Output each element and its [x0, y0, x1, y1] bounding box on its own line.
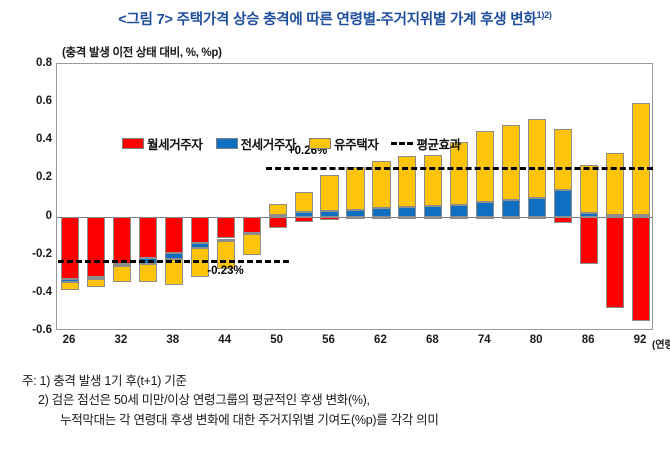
bar-segment-homeowner [580, 165, 598, 213]
bar-segment-monthly-rent [632, 217, 650, 321]
bar-segment-homeowner [113, 266, 131, 282]
avg-line-over-50 [266, 167, 653, 170]
avg-line-under-50 [58, 260, 289, 263]
bar-segment-homeowner [243, 234, 261, 255]
x-axis-tick: 62 [374, 334, 387, 346]
legend-item-label: 평균효과 [416, 134, 460, 153]
page-title-superscript: 1)2) [537, 10, 552, 20]
bar-segment-monthly-rent [502, 217, 520, 219]
legend-swatch-blue [216, 138, 238, 149]
bar-column [269, 64, 287, 329]
bar-segment-jeonse [476, 202, 494, 216]
bar-segment-monthly-rent [606, 217, 624, 309]
bar-column [346, 64, 364, 329]
bar-column [398, 64, 416, 329]
legend-item-label: 유주택자 [334, 134, 378, 153]
bar-segment-jeonse [632, 215, 650, 217]
y-axis-tick: 0.6 [8, 95, 52, 107]
bar-segment-homeowner [502, 125, 520, 200]
x-axis-tick: 38 [166, 334, 179, 346]
bar-segment-homeowner [554, 129, 572, 190]
y-axis-tick: 0.8 [8, 57, 52, 69]
bar-segment-homeowner [61, 282, 79, 290]
bar-segment-homeowner [632, 103, 650, 216]
bar-segment-monthly-rent [61, 217, 79, 279]
legend-item: 월세거주자 [122, 134, 203, 153]
legend-item-label: 월세거주자 [147, 134, 203, 153]
x-axis-unit-label: (연령) [652, 336, 670, 351]
bar-segment-monthly-rent [398, 217, 416, 219]
y-axis-tick: 0.4 [8, 133, 52, 145]
bar-segment-monthly-rent [191, 217, 209, 244]
legend-item: 평균효과 [391, 134, 460, 153]
bar-segment-jeonse [398, 207, 416, 217]
bar-segment-jeonse [502, 200, 520, 216]
bar-segment-homeowner [606, 153, 624, 215]
bar-column [87, 64, 105, 329]
bar-segment-monthly-rent [372, 217, 390, 219]
legend-dash-black [391, 138, 413, 149]
bar-column [191, 64, 209, 329]
bar-segment-monthly-rent [295, 217, 313, 223]
bar-segment-monthly-rent [528, 217, 546, 219]
bar-segment-monthly-rent [139, 217, 157, 258]
bar-segment-monthly-rent [580, 217, 598, 265]
chart-plot-inner: -0.23%+0.26% [57, 64, 652, 329]
axis-unit-label: (충격 발생 이전 상태 대비, %, %p) [62, 44, 222, 60]
legend-item: 유주택자 [309, 134, 378, 153]
bar-column [502, 64, 520, 329]
bar-segment-monthly-rent [320, 217, 338, 221]
bar-segment-jeonse [450, 205, 468, 216]
bar-column [61, 64, 79, 329]
bar-column [295, 64, 313, 329]
chart-legend: 월세거주자전세거주자유주택자평균효과 [122, 134, 461, 153]
y-axis-tick: -0.4 [8, 286, 52, 298]
bar-segment-monthly-rent [476, 217, 494, 219]
bar-column [217, 64, 235, 329]
bar-segment-jeonse [346, 210, 364, 217]
avg-under-50-label: -0.23% [207, 265, 243, 277]
bar-segment-monthly-rent [243, 217, 261, 233]
legend-swatch-red [122, 138, 144, 149]
bar-segment-jeonse [424, 206, 442, 216]
bar-segment-homeowner [295, 192, 313, 212]
page-title: <그림 7> 주택가격 상승 충격에 따른 연령별-주거지위별 가계 후생 변화… [0, 8, 670, 29]
figure-note-3: 누적막대는 각 연령대 후생 변화에 대한 주거지위별 기여도(%p)를 각각 … [22, 411, 662, 430]
bar-segment-monthly-rent [165, 217, 183, 253]
chart-plot-area: -0.23%+0.26% 월세거주자전세거주자유주택자평균효과 [56, 63, 653, 330]
bar-column [450, 64, 468, 329]
y-axis-tick: 0 [8, 210, 52, 222]
bar-column [580, 64, 598, 329]
bar-segment-monthly-rent [217, 217, 235, 239]
y-axis-tick: 0.2 [8, 171, 52, 183]
x-axis-tick: 32 [114, 334, 127, 346]
bar-column [528, 64, 546, 329]
figure-note-2: 2) 검은 점선은 50세 미만/이상 연령그룹의 평균적인 후생 변화(%), [22, 391, 662, 410]
bar-segment-monthly-rent [87, 217, 105, 277]
bar-segment-jeonse [580, 213, 598, 217]
bar-segment-jeonse [320, 211, 338, 217]
bar-column [243, 64, 261, 329]
x-axis-tick: 68 [426, 334, 439, 346]
x-axis-tick: 74 [478, 334, 491, 346]
y-axis-tick: -0.6 [8, 324, 52, 336]
x-axis-tick: 56 [322, 334, 335, 346]
bar-segment-monthly-rent [554, 217, 572, 224]
x-axis-tick-labels: 263238445056626874808692(연령) [56, 334, 653, 354]
x-axis-tick: 92 [634, 334, 647, 346]
x-axis-tick: 86 [582, 334, 595, 346]
legend-item-label: 전세거주자 [241, 134, 297, 153]
bar-segment-jeonse [606, 215, 624, 217]
bar-segment-homeowner [320, 175, 338, 211]
bar-segment-monthly-rent [450, 217, 468, 219]
bar-column [320, 64, 338, 329]
legend-swatch-yellow [309, 138, 331, 149]
bar-segment-jeonse [528, 198, 546, 216]
y-axis-tick: -0.2 [8, 248, 52, 260]
bar-segment-homeowner [346, 167, 364, 210]
x-axis-tick: 80 [530, 334, 543, 346]
bar-segment-jeonse [269, 215, 287, 217]
bar-column [372, 64, 390, 329]
bar-segment-monthly-rent [113, 217, 131, 265]
legend-item: 전세거주자 [216, 134, 297, 153]
figure-note-1: 주: 1) 충격 발생 1기 후(t+1) 기준 [22, 372, 662, 391]
bar-column [113, 64, 131, 329]
x-axis-tick: 50 [270, 334, 283, 346]
bar-segment-homeowner [87, 279, 105, 287]
bar-column [632, 64, 650, 329]
x-axis-tick: 26 [63, 334, 76, 346]
bar-segment-homeowner [528, 119, 546, 198]
bar-column [476, 64, 494, 329]
x-axis-tick: 44 [218, 334, 231, 346]
bar-column [165, 64, 183, 329]
bar-segment-homeowner [269, 204, 287, 214]
bar-column [424, 64, 442, 329]
figure-notes: 주: 1) 충격 발생 1기 후(t+1) 기준 2) 검은 점선은 50세 미… [22, 372, 662, 430]
y-axis-tick-labels: 0.80.60.40.20-0.2-0.4-0.6 [0, 63, 52, 330]
bar-column [139, 64, 157, 329]
bar-segment-monthly-rent [424, 217, 442, 219]
bar-column [554, 64, 572, 329]
bar-segment-jeonse [295, 212, 313, 216]
bar-segment-homeowner [139, 264, 157, 282]
bar-segment-monthly-rent [346, 217, 364, 220]
bar-segment-jeonse [554, 190, 572, 217]
bar-column [606, 64, 624, 329]
page-title-text: <그림 7> 주택가격 상승 충격에 따른 연령별-주거지위별 가계 후생 변화 [118, 12, 536, 28]
bar-segment-monthly-rent [269, 217, 287, 228]
bar-segment-jeonse [372, 208, 390, 217]
bar-segment-homeowner [424, 155, 442, 206]
bar-segment-homeowner [398, 156, 416, 207]
